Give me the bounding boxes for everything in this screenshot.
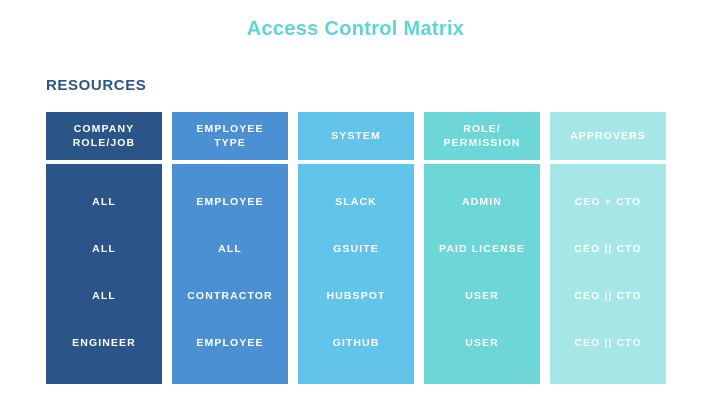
- column-header[interactable]: ROLE/ PERMISSION: [424, 112, 540, 160]
- matrix-cell: USER: [424, 272, 540, 319]
- matrix-column: COMPANY ROLE/JOBALLALLALLENGINEER: [46, 112, 162, 384]
- matrix-cell: PAID LICENSE: [424, 225, 540, 272]
- matrix-cell: ALL: [46, 272, 162, 319]
- access-control-matrix: COMPANY ROLE/JOBALLALLALLENGINEEREMPLOYE…: [46, 112, 666, 384]
- matrix-column: EMPLOYEE TYPEEMPLOYEEALLCONTRACTOREMPLOY…: [172, 112, 288, 384]
- matrix-cell: CEO || CTO: [550, 225, 666, 272]
- matrix-cell: ALL: [46, 178, 162, 225]
- page-title: Access Control Matrix: [0, 18, 711, 41]
- column-header[interactable]: SYSTEM: [298, 112, 414, 160]
- matrix-cell: EMPLOYEE: [172, 178, 288, 225]
- column-body: ADMINPAID LICENSEUSERUSER: [424, 164, 540, 384]
- column-body: EMPLOYEEALLCONTRACTOREMPLOYEE: [172, 164, 288, 384]
- matrix-cell: CONTRACTOR: [172, 272, 288, 319]
- matrix-cell: USER: [424, 319, 540, 366]
- matrix-cell: CEO || CTO: [550, 319, 666, 366]
- matrix-cell: EMPLOYEE: [172, 319, 288, 366]
- column-header[interactable]: APPROVERS: [550, 112, 666, 160]
- column-body: SLACKGSUITEHUBSPOTGITHUB: [298, 164, 414, 384]
- matrix-cell: SLACK: [298, 178, 414, 225]
- matrix-cell: ENGINEER: [46, 319, 162, 366]
- column-body: ALLALLALLENGINEER: [46, 164, 162, 384]
- column-header[interactable]: EMPLOYEE TYPE: [172, 112, 288, 160]
- section-label-resources: RESOURCES: [46, 77, 146, 94]
- matrix-cell: ALL: [172, 225, 288, 272]
- matrix-cell: CEO + CTO: [550, 178, 666, 225]
- matrix-cell: GITHUB: [298, 319, 414, 366]
- matrix-column: APPROVERSCEO + CTOCEO || CTOCEO || CTOCE…: [550, 112, 666, 384]
- matrix-cell: HUBSPOT: [298, 272, 414, 319]
- matrix-cell: GSUITE: [298, 225, 414, 272]
- matrix-cell: ALL: [46, 225, 162, 272]
- column-body: CEO + CTOCEO || CTOCEO || CTOCEO || CTO: [550, 164, 666, 384]
- column-header[interactable]: COMPANY ROLE/JOB: [46, 112, 162, 160]
- matrix-column: ROLE/ PERMISSIONADMINPAID LICENSEUSERUSE…: [424, 112, 540, 384]
- matrix-cell: ADMIN: [424, 178, 540, 225]
- matrix-cell: CEO || CTO: [550, 272, 666, 319]
- matrix-column: SYSTEMSLACKGSUITEHUBSPOTGITHUB: [298, 112, 414, 384]
